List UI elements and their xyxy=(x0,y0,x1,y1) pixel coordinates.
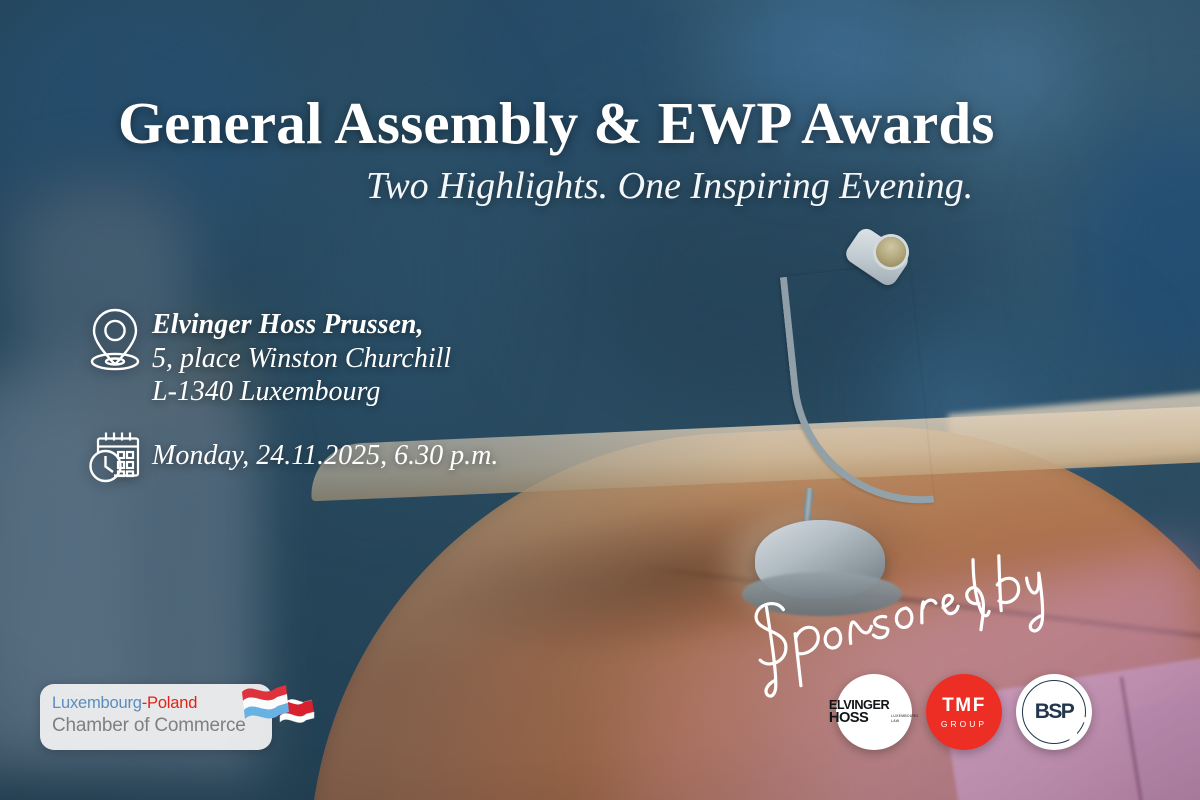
elvinger-tagline-line2: LAW xyxy=(892,718,919,722)
sponsor-logo-tmf-group[interactable]: TMF GROUP xyxy=(926,674,1002,750)
organizer-logo-line2: Chamber of Commerce xyxy=(52,715,272,737)
venue-address: Elvinger Hoss Prussen, 5, place Winston … xyxy=(152,306,451,409)
venue-city: L-1340 Luxembourg xyxy=(152,375,451,409)
tmf-line2: GROUP xyxy=(941,719,987,729)
organizer-logo: Luxembourg-Poland Chamber of Commerce xyxy=(40,684,272,750)
sponsor-logo-elvinger-hoss[interactable]: ELVINGER HOSS LUXEMBOURG LAW xyxy=(836,674,912,750)
tmf-line1: TMF xyxy=(941,695,987,717)
page-subtitle: Two Highlights. One Inspiring Evening. xyxy=(366,164,973,210)
flags-icon xyxy=(240,678,320,735)
venue-name: Elvinger Hoss Prussen, xyxy=(152,308,451,342)
organizer-luxembourg-text: Luxembourg xyxy=(52,694,142,712)
poster-content: General Assembly & EWP Awards Two Highli… xyxy=(0,0,1200,800)
organizer-logo-line1: Luxembourg-Poland xyxy=(52,694,272,713)
sponsor-logo-bsp[interactable]: BSP xyxy=(1016,674,1092,750)
calendar-clock-icon xyxy=(78,428,152,484)
date-text: Monday, 24.11.2025, 6.30 p.m. xyxy=(152,440,498,472)
page-title: General Assembly & EWP Awards xyxy=(118,92,995,155)
elvinger-line2: HOSS xyxy=(829,711,889,725)
organizer-poland-text: -Poland xyxy=(142,694,197,712)
sponsor-logos: ELVINGER HOSS LUXEMBOURG LAW TMF GROUP xyxy=(836,674,1092,750)
elvinger-tagline-line1: LUXEMBOURG xyxy=(892,714,919,718)
venue-street: 5, place Winston Churchill xyxy=(152,342,451,376)
bsp-line1: BSP xyxy=(1035,700,1073,724)
venue-info: Elvinger Hoss Prussen, 5, place Winston … xyxy=(78,306,451,409)
event-poster: General Assembly & EWP Awards Two Highli… xyxy=(0,0,1200,800)
date-info: Monday, 24.11.2025, 6.30 p.m. xyxy=(78,428,498,484)
location-pin-icon xyxy=(78,306,152,372)
